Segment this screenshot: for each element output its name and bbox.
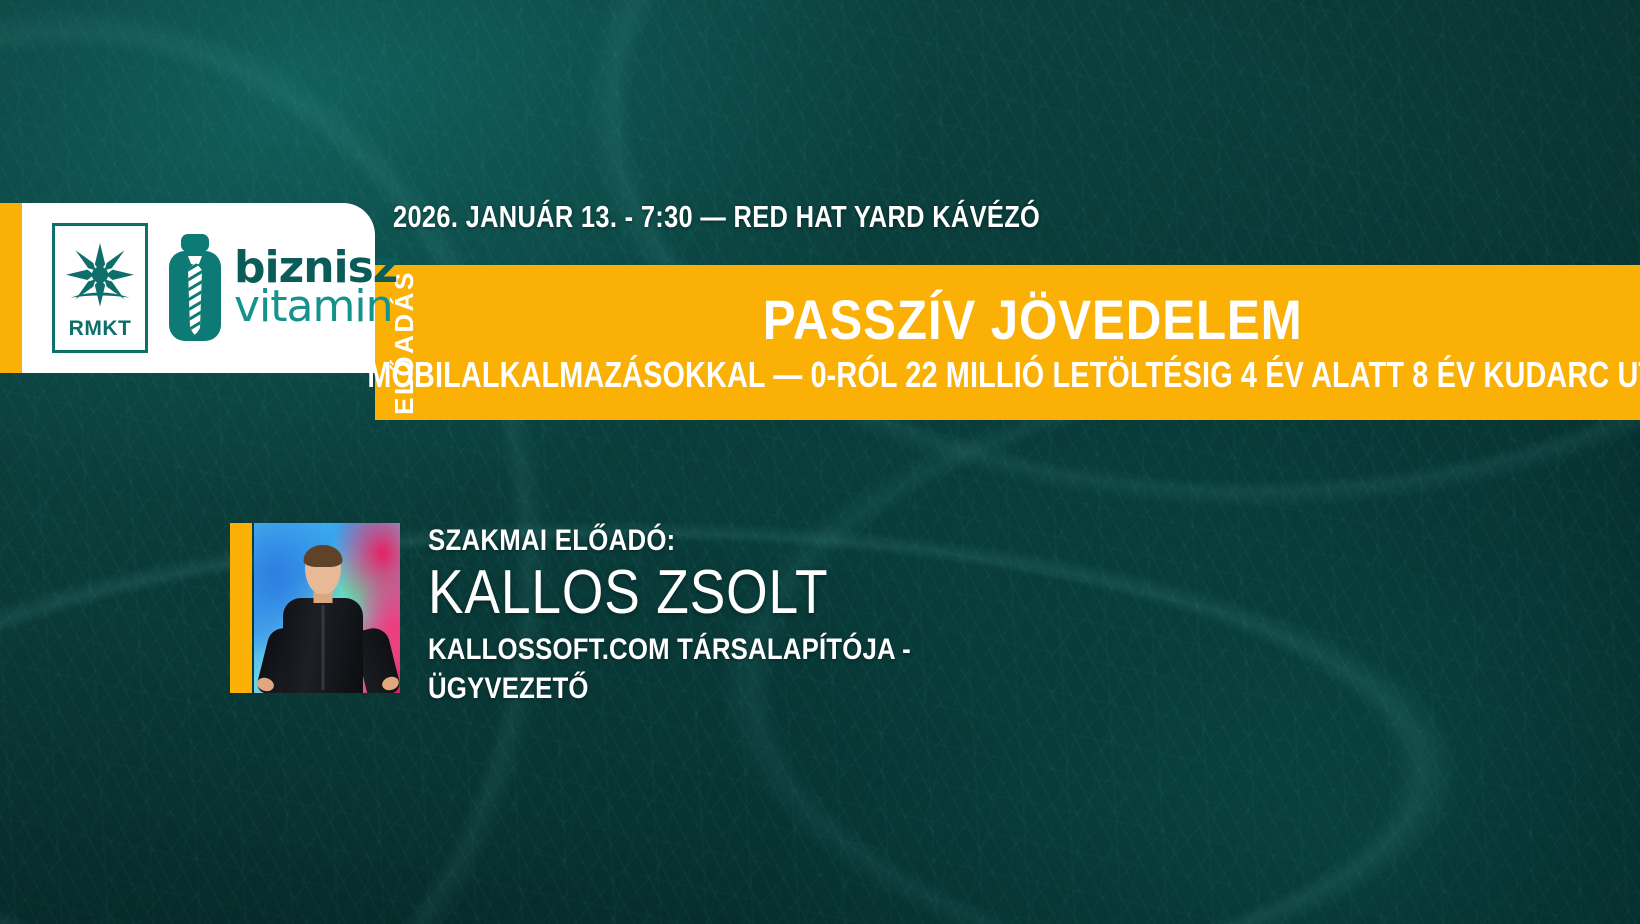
- background-texture: [0, 0, 1640, 924]
- event-banner: RMKT: [0, 0, 1640, 924]
- compass-star-icon: [63, 238, 137, 316]
- rmkt-logo: RMKT: [52, 223, 148, 353]
- speaker-role-line1: KALLOSSOFT.COM TÁRSALAPÍTÓJA -: [428, 631, 911, 669]
- biznisz-vitamin-wordmark: biznisz vitamin: [234, 249, 397, 326]
- rmkt-label: RMKT: [69, 318, 132, 339]
- talk-subtitle: MOBILALKALMAZÁSOKKAL — 0-RÓL 22 MILLIÓ L…: [367, 355, 1640, 395]
- talk-title: PASSZÍV JÖVEDELEM: [763, 290, 1303, 350]
- speaker-label: SZAKMAI ELŐADÓ:: [428, 525, 911, 557]
- talk-banner: ELŐADÁS PASSZÍV JÖVEDELEM MOBILALKALMAZÁ…: [375, 265, 1640, 420]
- vitamin-bottle-necktie-icon: [164, 232, 226, 344]
- speaker-photo-accent-bar: [230, 523, 252, 693]
- biznisz-vitamin-logo: biznisz vitamin: [164, 232, 397, 344]
- logo-card-yellow-stripe: [0, 203, 22, 373]
- speaker-block: SZAKMAI ELŐADÓ: KALLOS ZSOLT KALLOSSOFT.…: [230, 523, 990, 708]
- figure-shirt-placket: [321, 605, 324, 690]
- figure-hair: [303, 545, 342, 567]
- speaker-text-group: SZAKMAI ELŐADÓ: KALLOS ZSOLT KALLOSSOFT.…: [428, 523, 990, 708]
- speaker-name: KALLOS ZSOLT: [428, 561, 911, 625]
- speaker-photo: [254, 523, 400, 693]
- logo-group: RMKT: [52, 223, 397, 353]
- logo-card: RMKT: [0, 203, 375, 373]
- photo-figure: [254, 523, 400, 693]
- event-date-venue: 2026. JANUÁR 13. - 7:30 — RED HAT YARD K…: [393, 199, 1040, 235]
- speaker-photo-frame: [230, 523, 400, 693]
- speaker-role-line2: ÜGYVEZETŐ: [428, 670, 911, 708]
- brand-line-vitamin: vitamin: [234, 288, 397, 327]
- talk-text-group: PASSZÍV JÖVEDELEM MOBILALKALMAZÁSOKKAL —…: [435, 265, 1630, 420]
